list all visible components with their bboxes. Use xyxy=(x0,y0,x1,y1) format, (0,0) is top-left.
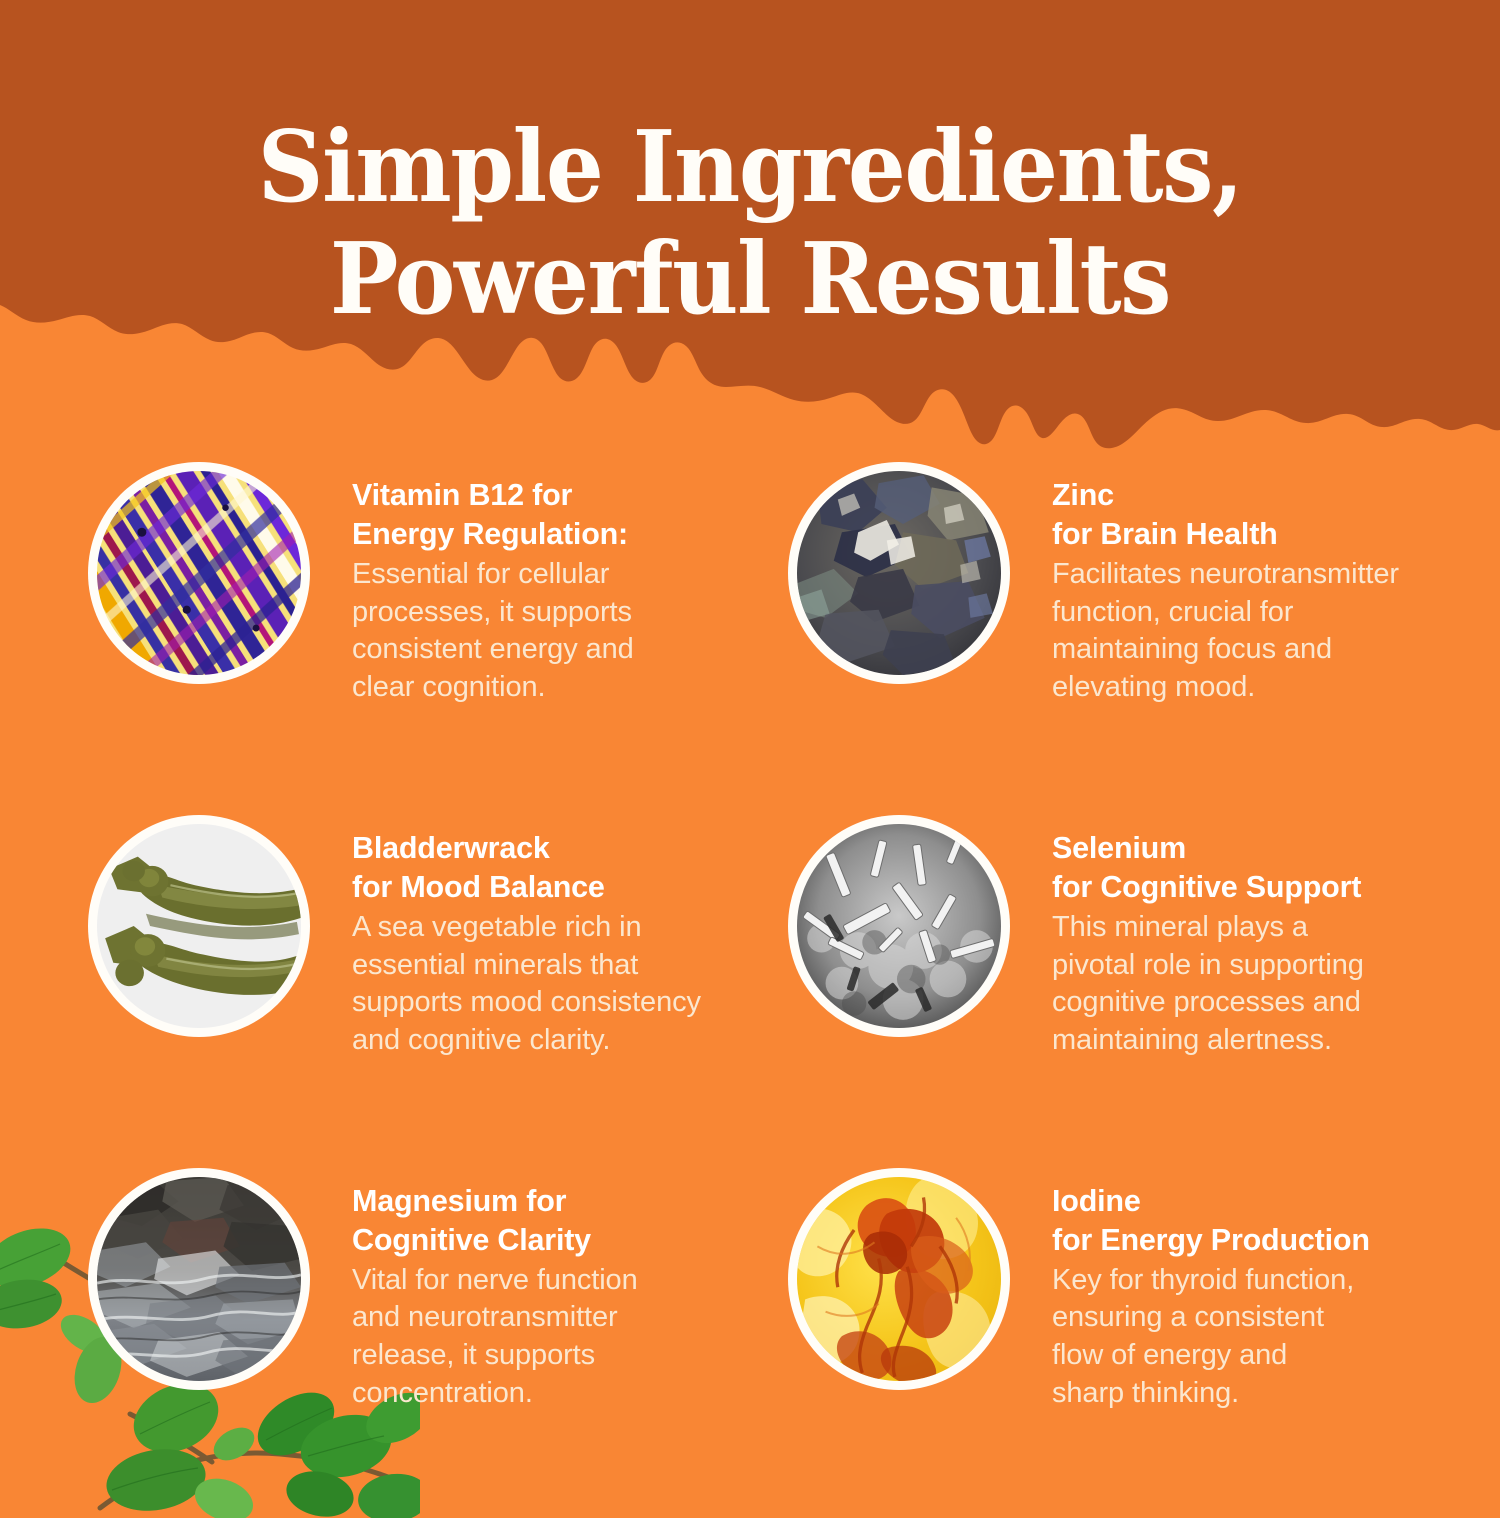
ingredient-description: A sea vegetable rich in essential minera… xyxy=(352,909,701,1060)
thumbnail-ring xyxy=(88,1168,310,1390)
ingredient-description: Vital for nerve function and neurotransm… xyxy=(352,1262,638,1413)
ingredient-card-iodine: Iodine for Energy Production Key for thy… xyxy=(788,1168,1458,1413)
card-text-block: Magnesium for Cognitive Clarity Vital fo… xyxy=(310,1168,638,1413)
iodine-dye-swirl-image xyxy=(797,1177,1001,1381)
selenium-crystals-image xyxy=(797,824,1001,1028)
card-text-block: Vitamin B12 for Energy Regulation: Essen… xyxy=(310,462,634,707)
ingredient-title: Bladderwrack for Mood Balance xyxy=(352,829,701,907)
ingredient-title: Vitamin B12 for Energy Regulation: xyxy=(352,476,634,554)
thumbnail-ring xyxy=(88,815,310,1037)
page-title: Simple Ingredients, Powerful Results xyxy=(53,112,1448,335)
card-text-block: Iodine for Energy Production Key for thy… xyxy=(1010,1168,1370,1413)
header-banner: Simple Ingredients, Powerful Results xyxy=(0,0,1500,470)
ingredient-description: Essential for cellular processes, it sup… xyxy=(352,556,634,707)
page-title-line-2: Powerful Results xyxy=(53,224,1448,336)
card-text-block: Selenium for Cognitive Support This mine… xyxy=(1010,815,1364,1060)
thumbnail-ring xyxy=(788,815,1010,1037)
vitamin-b12-crystal-micrograph-image xyxy=(97,471,301,675)
ingredient-title: Magnesium for Cognitive Clarity xyxy=(352,1182,638,1260)
card-text-block: Zinc for Brain Health Facilitates neurot… xyxy=(1010,462,1399,707)
ingredient-card-zinc: Zinc for Brain Health Facilitates neurot… xyxy=(788,462,1458,707)
ingredient-card-magnesium: Magnesium for Cognitive Clarity Vital fo… xyxy=(88,1168,758,1413)
ingredient-title: Selenium for Cognitive Support xyxy=(1052,829,1364,907)
page-title-line-1: Simple Ingredients, xyxy=(53,112,1448,224)
thumbnail-ring xyxy=(788,1168,1010,1390)
ingredient-description: Facilitates neurotransmitter function, c… xyxy=(1052,556,1399,707)
thumbnail-ring xyxy=(788,462,1010,684)
ingredient-title: Iodine for Energy Production xyxy=(1052,1182,1370,1260)
ingredient-card-vitamin-b12: Vitamin B12 for Energy Regulation: Essen… xyxy=(88,462,758,707)
ingredient-description: This mineral plays a pivotal role in sup… xyxy=(1052,909,1364,1060)
thumbnail-ring xyxy=(88,462,310,684)
magnesium-rock-image xyxy=(97,1177,301,1381)
ingredient-card-selenium: Selenium for Cognitive Support This mine… xyxy=(788,815,1458,1060)
bladderwrack-seaweed-image xyxy=(97,824,301,1028)
card-text-block: Bladderwrack for Mood Balance A sea vege… xyxy=(310,815,701,1060)
ingredient-title: Zinc for Brain Health xyxy=(1052,476,1399,554)
zinc-ore-mineral-image xyxy=(797,471,1001,675)
ingredient-card-bladderwrack: Bladderwrack for Mood Balance A sea vege… xyxy=(88,815,758,1060)
ingredient-description: Key for thyroid function, ensuring a con… xyxy=(1052,1262,1370,1413)
ingredients-grid: Vitamin B12 for Energy Regulation: Essen… xyxy=(0,462,1500,1412)
